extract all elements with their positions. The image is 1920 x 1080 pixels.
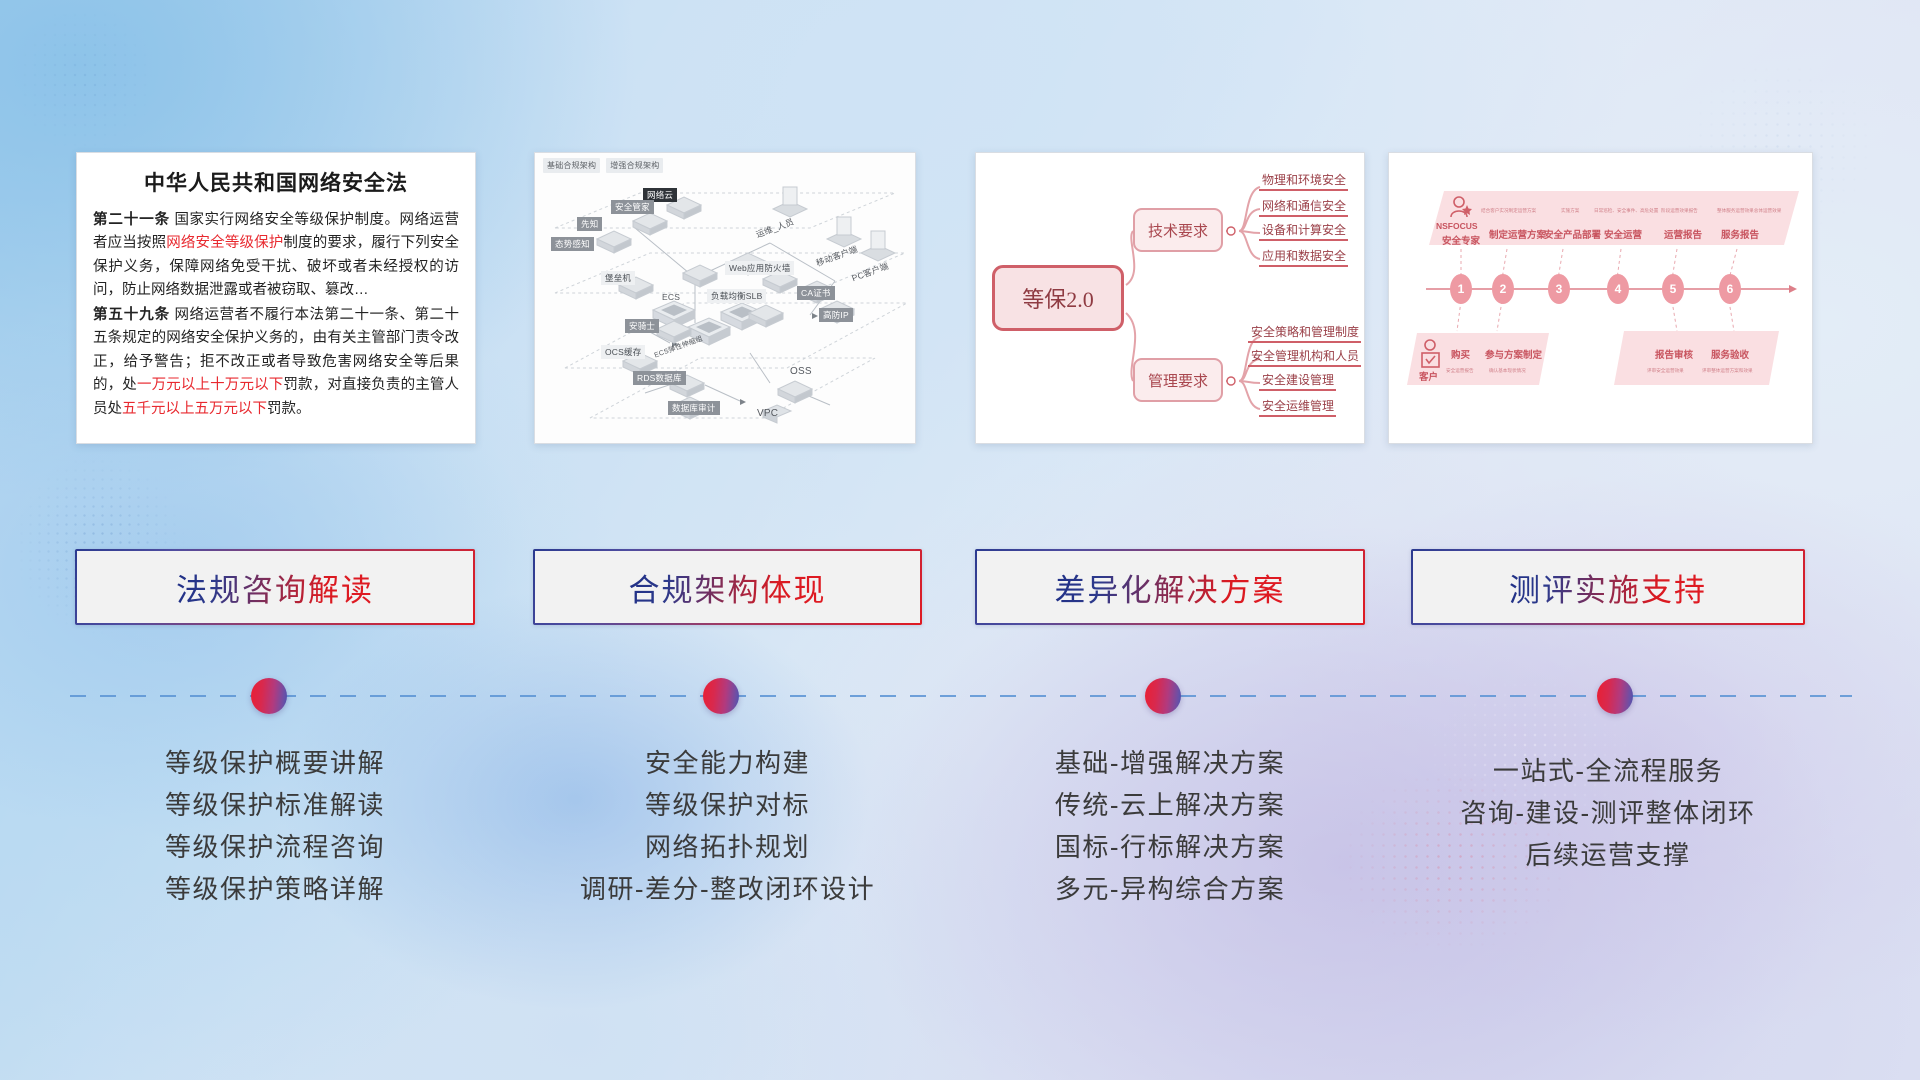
list-item: 等级保护标准解读: [75, 784, 475, 826]
list-item: 后续运营支撑: [1411, 834, 1805, 876]
service-bottom-title-3: 报告审核: [1655, 347, 1693, 361]
service-top-title-4: 运营报告: [1664, 227, 1702, 241]
section-header-3[interactable]: 差异化解决方案: [975, 549, 1365, 625]
dot-texture-left-middle: [0, 430, 210, 660]
section-header-2[interactable]: 合规架构体现: [533, 549, 922, 625]
node-label-xianzhi: 先知: [577, 217, 602, 231]
service-actor-customer: 客户: [1419, 369, 1438, 383]
node-label-anti-ddos-ip: 高防IP: [819, 308, 853, 322]
mindmap-leaf-org-personnel: 安全管理机构和人员: [1248, 347, 1361, 367]
service-bottom-sub-4: 评审整体运营方案和效果: [1702, 368, 1753, 374]
article-59-highlight-1: 一万元以上十万元以下: [137, 377, 283, 393]
law-article-59: 第五十九条 网络运营者不履行本法第二十一条、第二十五条规定的网络安全保护义务的，…: [93, 304, 459, 421]
architecture-diagram: 基础合规架构 增强合规架构 网络云 态势感知 先知 安全管家 运维_人员 移动客…: [535, 153, 915, 443]
service-step-number-2: 2: [1492, 274, 1514, 304]
section-header-2-label: 合规架构体现: [629, 565, 827, 610]
mindmap-leaf-ops-mgmt: 安全运维管理: [1259, 397, 1336, 417]
mindmap-leaf-policy-system: 安全策略和管理制度: [1248, 323, 1361, 343]
mindmap-branch-management[interactable]: 管理要求: [1133, 358, 1223, 402]
section-header-3-label: 差异化解决方案: [1055, 565, 1286, 610]
list-item: 传统-云上解决方案: [975, 784, 1365, 826]
mindmap-leaf-app-data: 应用和数据安全: [1259, 247, 1348, 267]
section-list-1: 等级保护概要讲解 等级保护标准解读 等级保护流程咨询 等级保护策略详解: [75, 742, 475, 910]
article-59-highlight-2: 五千元以上五万元以下: [122, 401, 267, 417]
service-bottom-sub-2: 确认基本现状情况: [1489, 368, 1526, 374]
law-article-21: 第二十一条 国家实行网络安全等级保护制度。网络运营者应当按照网络安全等级保护制度…: [93, 209, 459, 303]
list-item: 安全能力构建: [533, 742, 922, 784]
section-header-4-inner: 测评实施支持: [1413, 551, 1803, 623]
node-label-oss: OSS: [786, 365, 816, 378]
node-label-ocs-cache: OCS缓存: [601, 345, 645, 359]
service-top-sub-5: 整体服务运营效果总体运营效果: [1717, 208, 1781, 214]
service-top-title-3: 安全运营: [1604, 227, 1642, 241]
service-top-title-1: 制定运营方案: [1489, 227, 1546, 241]
card-service-process[interactable]: NSFOCUS 安全专家 客户 结合客户实况制定运营方案 制定运营方案 实施方案…: [1388, 152, 1813, 444]
mindmap-leaf-network-comm: 网络和通信安全: [1259, 197, 1348, 217]
service-bottom-title-2: 参与方案制定: [1485, 347, 1542, 361]
service-top-sub-3: 日常巡检、安全事件、高危处置: [1594, 208, 1658, 214]
card-cloud-architecture[interactable]: 基础合规架构 增强合规架构 网络云 态势感知 先知 安全管家 运维_人员 移动客…: [534, 152, 916, 444]
timeline-dot-1[interactable]: [251, 678, 287, 714]
list-item: 等级保护对标: [533, 784, 922, 826]
architecture-tabs[interactable]: 基础合规架构 增强合规架构: [543, 158, 663, 173]
service-step-number-6: 6: [1719, 274, 1741, 304]
timeline-dashed-line: [70, 695, 1852, 697]
node-label-rds: RDS数据库: [633, 371, 686, 385]
service-actor-expert-line2: 安全专家: [1442, 233, 1480, 247]
node-label-bastion-host: 堡垒机: [601, 271, 635, 285]
card-mindmap-dengbao[interactable]: 等保2.0 技术要求 管理要求 物理和环境安全 网络和通信安全 设备和计算安全 …: [975, 152, 1365, 444]
thumbnail-card-row: 中华人民共和国网络安全法 第二十一条 国家实行网络安全等级保护制度。网络运营者应…: [0, 0, 1920, 440]
section-list-2: 安全能力构建 等级保护对标 网络拓扑规划 调研-差分-整改闭环设计: [533, 742, 922, 910]
mindmap-leaf-device-compute: 设备和计算安全: [1259, 221, 1348, 241]
list-item: 等级保护流程咨询: [75, 826, 475, 868]
mindmap-leaf-physical-env: 物理和环境安全: [1259, 171, 1348, 191]
article-59-label: 第五十九条: [93, 307, 170, 323]
service-bottom-sub-3: 评审安全运营效果: [1647, 368, 1684, 374]
service-process-diagram: NSFOCUS 安全专家 客户 结合客户实况制定运营方案 制定运营方案 实施方案…: [1389, 153, 1812, 443]
service-top-title-2: 安全产品部署: [1544, 227, 1601, 241]
service-bottom-title-1: 购买: [1451, 347, 1470, 361]
service-step-number-5: 5: [1662, 274, 1684, 304]
service-step-number-3: 3: [1548, 274, 1570, 304]
article-21-label: 第二十一条: [93, 212, 170, 228]
service-bottom-title-4: 服务验收: [1711, 347, 1749, 361]
mindmap-diagram: 等保2.0 技术要求 管理要求 物理和环境安全 网络和通信安全 设备和计算安全 …: [976, 153, 1364, 443]
service-top-sub-1: 结合客户实况制定运营方案: [1481, 208, 1536, 214]
list-item: 网络拓扑规划: [533, 826, 922, 868]
tab-enhanced-compliance[interactable]: 增强合规架构: [606, 158, 663, 173]
list-item: 基础-增强解决方案: [975, 742, 1365, 784]
section-header-2-inner: 合规架构体现: [535, 551, 920, 623]
timeline-dot-3[interactable]: [1145, 678, 1181, 714]
list-item: 等级保护概要讲解: [75, 742, 475, 784]
list-item: 等级保护策略详解: [75, 868, 475, 910]
section-list-3: 基础-增强解决方案 传统-云上解决方案 国标-行标解决方案 多元-异构综合方案: [975, 742, 1365, 910]
law-title: 中华人民共和国网络安全法: [93, 167, 459, 197]
section-header-1-inner: 法规咨询解读: [77, 551, 473, 623]
node-label-db-audit: 数据库审计: [668, 401, 720, 415]
node-label-ca-cert: CA证书: [797, 286, 835, 300]
node-label-waf: Web应用防火墙: [725, 261, 794, 275]
node-label-ecs: ECS: [658, 291, 684, 303]
service-step-number-4: 4: [1607, 274, 1629, 304]
mindmap-branch-technical[interactable]: 技术要求: [1133, 208, 1223, 252]
article-59-part3: 罚款。: [267, 401, 311, 417]
node-label-vpc: VPC: [753, 407, 782, 420]
service-top-sub-2: 实施方案: [1561, 208, 1579, 214]
article-21-highlight: 网络安全等级保护: [166, 235, 283, 251]
list-item: 咨询-建设-测评整体闭环: [1411, 792, 1805, 834]
service-top-sub-4: 阶段运营效果报告: [1661, 208, 1698, 214]
section-list-4: 一站式-全流程服务 咨询-建设-测评整体闭环 后续运营支撑: [1411, 750, 1805, 876]
list-item: 一站式-全流程服务: [1411, 750, 1805, 792]
list-item: 国标-行标解决方案: [975, 826, 1365, 868]
service-bottom-sub-1: 安全运营报告: [1446, 368, 1474, 374]
mindmap-root-node[interactable]: 等保2.0: [992, 265, 1124, 331]
node-label-anqishi: 安骑士: [625, 319, 659, 333]
node-label-situation-awareness: 态势感知: [551, 237, 594, 251]
section-header-1[interactable]: 法规咨询解读: [75, 549, 475, 625]
tab-basic-compliance[interactable]: 基础合规架构: [543, 158, 600, 173]
section-header-4-label: 测评实施支持: [1509, 565, 1707, 610]
section-header-3-inner: 差异化解决方案: [977, 551, 1363, 623]
section-header-4[interactable]: 测评实施支持: [1411, 549, 1805, 625]
node-label-slb: 负载均衡SLB: [707, 289, 766, 303]
node-label-security-butler: 安全管家: [611, 200, 654, 214]
list-item: 多元-异构综合方案: [975, 868, 1365, 910]
section-header-1-label: 法规咨询解读: [176, 565, 374, 610]
timeline-dot-4[interactable]: [1597, 678, 1633, 714]
timeline-dot-2[interactable]: [703, 678, 739, 714]
list-item: 调研-差分-整改闭环设计: [533, 868, 922, 910]
mindmap-leaf-construction-mgmt: 安全建设管理: [1259, 371, 1336, 391]
service-step-number-1: 1: [1450, 274, 1472, 304]
service-actor-expert-line1: NSFOCUS: [1436, 221, 1478, 231]
law-text-body: 中华人民共和国网络安全法 第二十一条 国家实行网络安全等级保护制度。网络运营者应…: [77, 153, 475, 432]
card-cybersecurity-law[interactable]: 中华人民共和国网络安全法 第二十一条 国家实行网络安全等级保护制度。网络运营者应…: [76, 152, 476, 444]
service-top-title-5: 服务报告: [1721, 227, 1759, 241]
